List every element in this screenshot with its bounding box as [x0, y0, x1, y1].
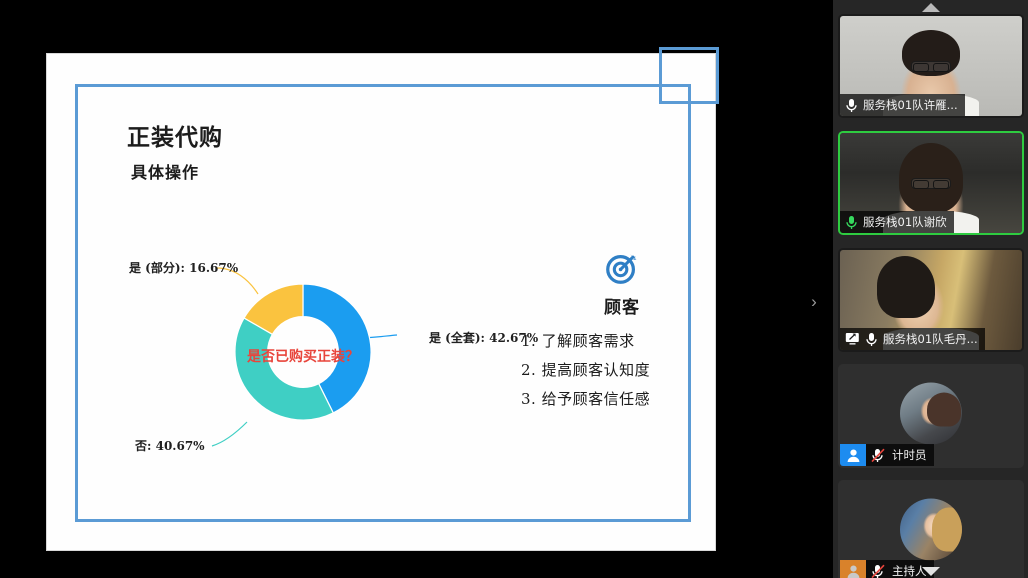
video-decor: [877, 256, 935, 318]
mic-icon: [865, 332, 878, 347]
slide-title: 正装代购: [127, 118, 223, 152]
participant-tile[interactable]: 服务栈01队毛丹...: [838, 248, 1024, 352]
slide-subtitle: 具体操作: [131, 159, 199, 183]
screen-share-icon: [845, 332, 860, 346]
slide-decorative-corner-frame: [659, 47, 719, 104]
participant-name: 服务栈01队谢欣: [863, 214, 947, 230]
mic-muted-icon: [871, 448, 887, 463]
participant-namebar: 计时员: [866, 444, 934, 466]
participant-tile-active-speaker[interactable]: 服务栈01队谢欣: [838, 131, 1024, 235]
donut-slice: [235, 318, 333, 420]
chart-label-partial: 是 (部分): 16.67%: [129, 259, 238, 276]
participant-namebar: 服务栈01队谢欣: [840, 211, 954, 233]
participant-tile[interactable]: 计时员: [838, 364, 1024, 468]
participant-namebar: 服务栈01队毛丹...: [840, 328, 985, 350]
scroll-down-arrow-icon: [922, 567, 940, 576]
donut-center-question: 是否已购买正装？: [217, 346, 389, 366]
content-list-item: 2. 提高顾客认知度: [517, 356, 727, 385]
participant-name: 服务栈01队毛丹...: [883, 331, 978, 347]
scroll-up-arrow-icon: [922, 3, 940, 12]
avatar: [900, 499, 962, 561]
content-list-item: 3. 给予顾客信任感: [517, 385, 727, 414]
person-icon: [846, 448, 861, 463]
bullseye-target-icon: [603, 249, 641, 287]
participant-filmstrip: 服务栈01队许雁... 服务栈01队谢欣: [832, 0, 1028, 578]
content-bullet-list: 1. 了解顾客需求 2. 提高顾客认知度 3. 给予顾客信任感: [517, 327, 727, 414]
video-decor: [911, 61, 951, 72]
donut-graphic: 是否已购买正装？: [235, 284, 371, 420]
filmstrip-scroll-down-button[interactable]: [833, 564, 1028, 578]
mic-icon: [845, 98, 858, 113]
presentation-slide: 正装代购 具体操作 是否已购买正装？ 是 (部分): 16.67% 否:: [46, 53, 716, 551]
participant-namebar: 服务栈01队许雁...: [840, 94, 965, 116]
participant-tile[interactable]: 服务栈01队许雁...: [838, 14, 1024, 118]
participant-role-badge: [840, 444, 866, 466]
zoom-meeting-window: 正装代购 具体操作 是否已购买正装？ 是 (部分): 16.67% 否:: [0, 0, 1028, 578]
chart-label-no: 否: 40.67%: [135, 437, 205, 454]
shared-screen-stage: 正装代购 具体操作 是否已购买正装？ 是 (部分): 16.67% 否:: [0, 0, 832, 578]
content-list-item: 1. 了解顾客需求: [517, 327, 727, 356]
participant-name: 服务栈01队许雁...: [863, 97, 958, 113]
content-heading: 顾客: [517, 293, 727, 318]
video-decor: [911, 178, 951, 189]
participant-name: 计时员: [892, 447, 927, 463]
donut-chart: 是否已购买正装？ 是 (部分): 16.67% 否: 40.67% 是 (全套)…: [67, 184, 467, 494]
collapse-panel-chevron-icon[interactable]: ›: [806, 292, 822, 312]
avatar: [900, 383, 962, 445]
mic-icon: [845, 215, 858, 230]
slide-content-block: 顾客 1. 了解顾客需求 2. 提高顾客认知度 3. 给予顾客信任感: [517, 249, 727, 414]
filmstrip-scroll-up-button[interactable]: [833, 0, 1028, 14]
